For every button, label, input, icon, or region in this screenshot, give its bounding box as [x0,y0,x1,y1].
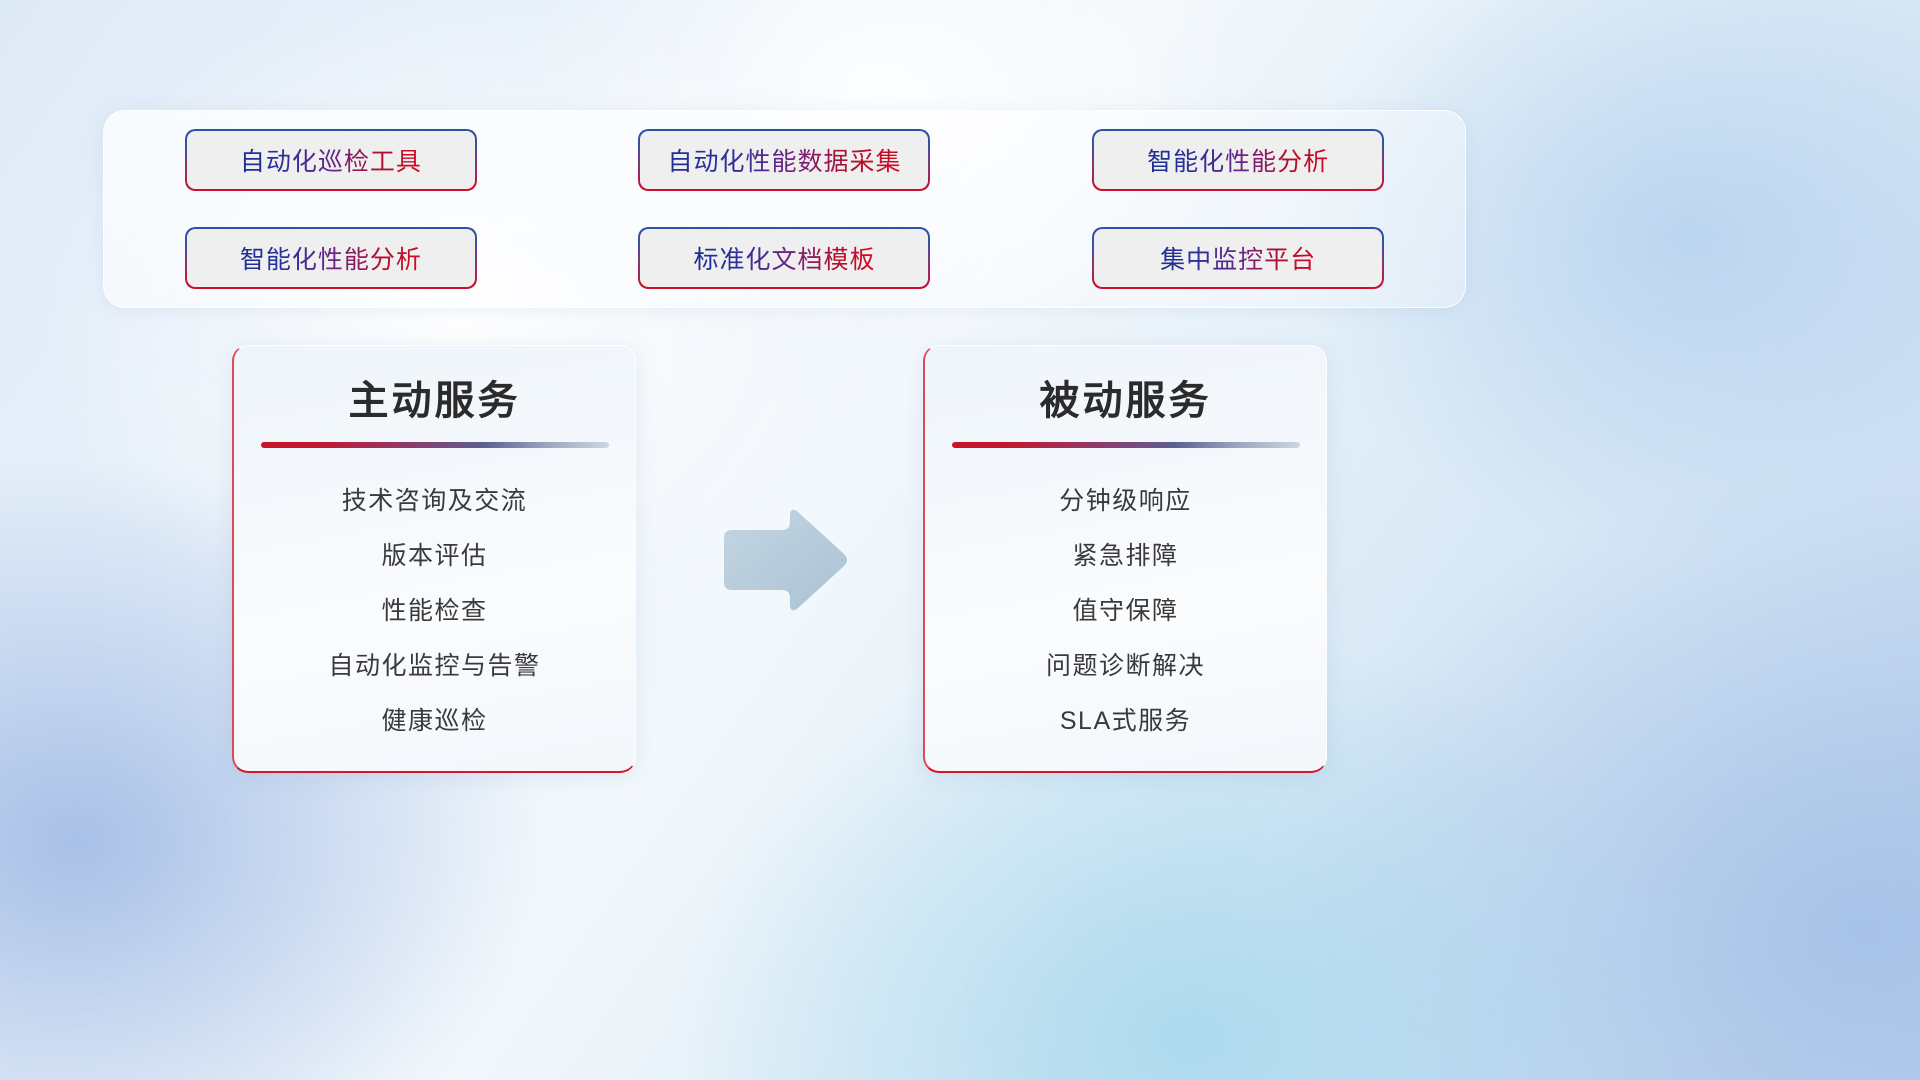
capability-pill-label: 集中监控平台 [1160,240,1316,276]
capability-pill-label: 智能化性能分析 [240,240,422,276]
capability-pill[interactable]: 智能化性能分析 [1092,129,1384,191]
capability-pill-label: 自动化巡检工具 [240,142,422,178]
service-list-item: 自动化监控与告警 [234,639,635,694]
service-card-title: 被动服务 [925,368,1326,426]
capability-pill-label: 智能化性能分析 [1147,142,1329,178]
right-arrow-icon [718,504,850,616]
service-item-list: 分钟级响应 紧急排障 值守保障 问题诊断解决 SLA式服务 [925,448,1326,749]
capability-pill-label: 自动化性能数据采集 [667,142,901,178]
service-card-proactive[interactable]: 主动服务 技术咨询及交流 版本评估 性能检查 自动化监控与告警 健康巡检 [232,345,636,773]
service-list-item: 技术咨询及交流 [234,474,635,529]
service-list-item: 性能检查 [234,584,635,639]
service-list-item: 紧急排障 [925,529,1326,584]
service-list-item: SLA式服务 [925,694,1326,749]
slide-canvas: 自动化巡检工具 自动化性能数据采集 智能化性能分析 智能化性能分析 标准化文档模… [0,0,1920,1080]
capability-pill-label: 标准化文档模板 [693,240,875,276]
service-card-reactive[interactable]: 被动服务 分钟级响应 紧急排障 值守保障 问题诊断解决 SLA式服务 [923,345,1327,773]
capability-pill[interactable]: 智能化性能分析 [185,227,477,289]
service-list-item: 健康巡检 [234,694,635,749]
service-item-list: 技术咨询及交流 版本评估 性能检查 自动化监控与告警 健康巡检 [234,448,635,749]
capability-panel: 自动化巡检工具 自动化性能数据采集 智能化性能分析 智能化性能分析 标准化文档模… [103,110,1466,308]
service-list-item: 问题诊断解决 [925,639,1326,694]
service-list-item: 分钟级响应 [925,474,1326,529]
capability-pill[interactable]: 自动化巡检工具 [185,129,477,191]
service-card-title: 主动服务 [234,368,635,426]
capability-pill[interactable]: 自动化性能数据采集 [638,129,930,191]
service-list-item: 值守保障 [925,584,1326,639]
capability-pill-grid: 自动化巡检工具 自动化性能数据采集 智能化性能分析 智能化性能分析 标准化文档模… [104,111,1465,307]
capability-pill[interactable]: 标准化文档模板 [638,227,930,289]
service-list-item: 版本评估 [234,529,635,584]
capability-pill[interactable]: 集中监控平台 [1092,227,1384,289]
